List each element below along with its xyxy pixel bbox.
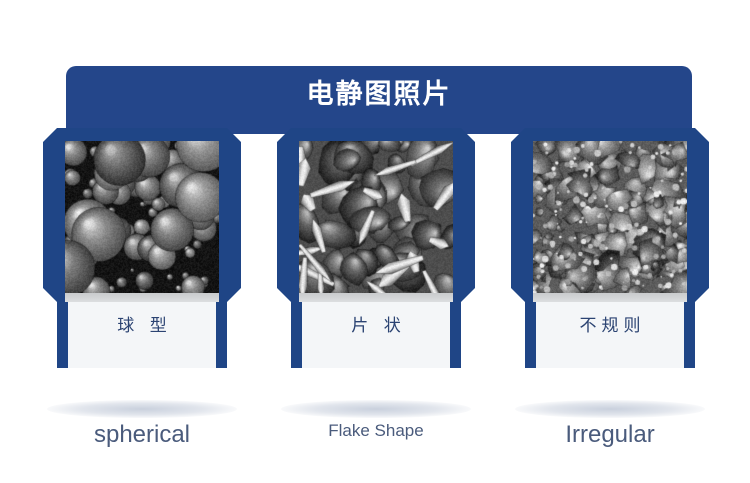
powder-card-irregular[interactable]: 不规则 bbox=[511, 128, 709, 368]
powder-card-flake[interactable]: 片 状 bbox=[277, 128, 475, 368]
powder-card-spherical[interactable]: 球 型 bbox=[43, 128, 241, 368]
card-caption-en-spherical: spherical bbox=[43, 421, 241, 449]
photo-ledge bbox=[299, 293, 453, 302]
header-banner: 电静图照片 bbox=[66, 66, 692, 134]
card-ground-shadow bbox=[515, 400, 705, 418]
card-ground-shadow bbox=[281, 400, 471, 418]
page-title: 电静图照片 bbox=[66, 66, 692, 124]
card-ground-shadow bbox=[47, 400, 237, 418]
card-label-cn-irregular: 不规则 bbox=[511, 311, 709, 336]
sem-photo-flake-powder bbox=[299, 141, 453, 293]
card-label-cn-spherical: 球 型 bbox=[43, 311, 241, 336]
photo-ledge bbox=[533, 293, 687, 302]
card-caption-en-flake: Flake Shape bbox=[277, 421, 475, 441]
sem-photo-spherical-powder bbox=[65, 141, 219, 293]
photo-ledge bbox=[65, 293, 219, 302]
card-caption-en-irregular: Irregular bbox=[511, 421, 709, 449]
sem-photo-irregular-powder bbox=[533, 141, 687, 293]
card-label-cn-flake: 片 状 bbox=[277, 311, 475, 336]
